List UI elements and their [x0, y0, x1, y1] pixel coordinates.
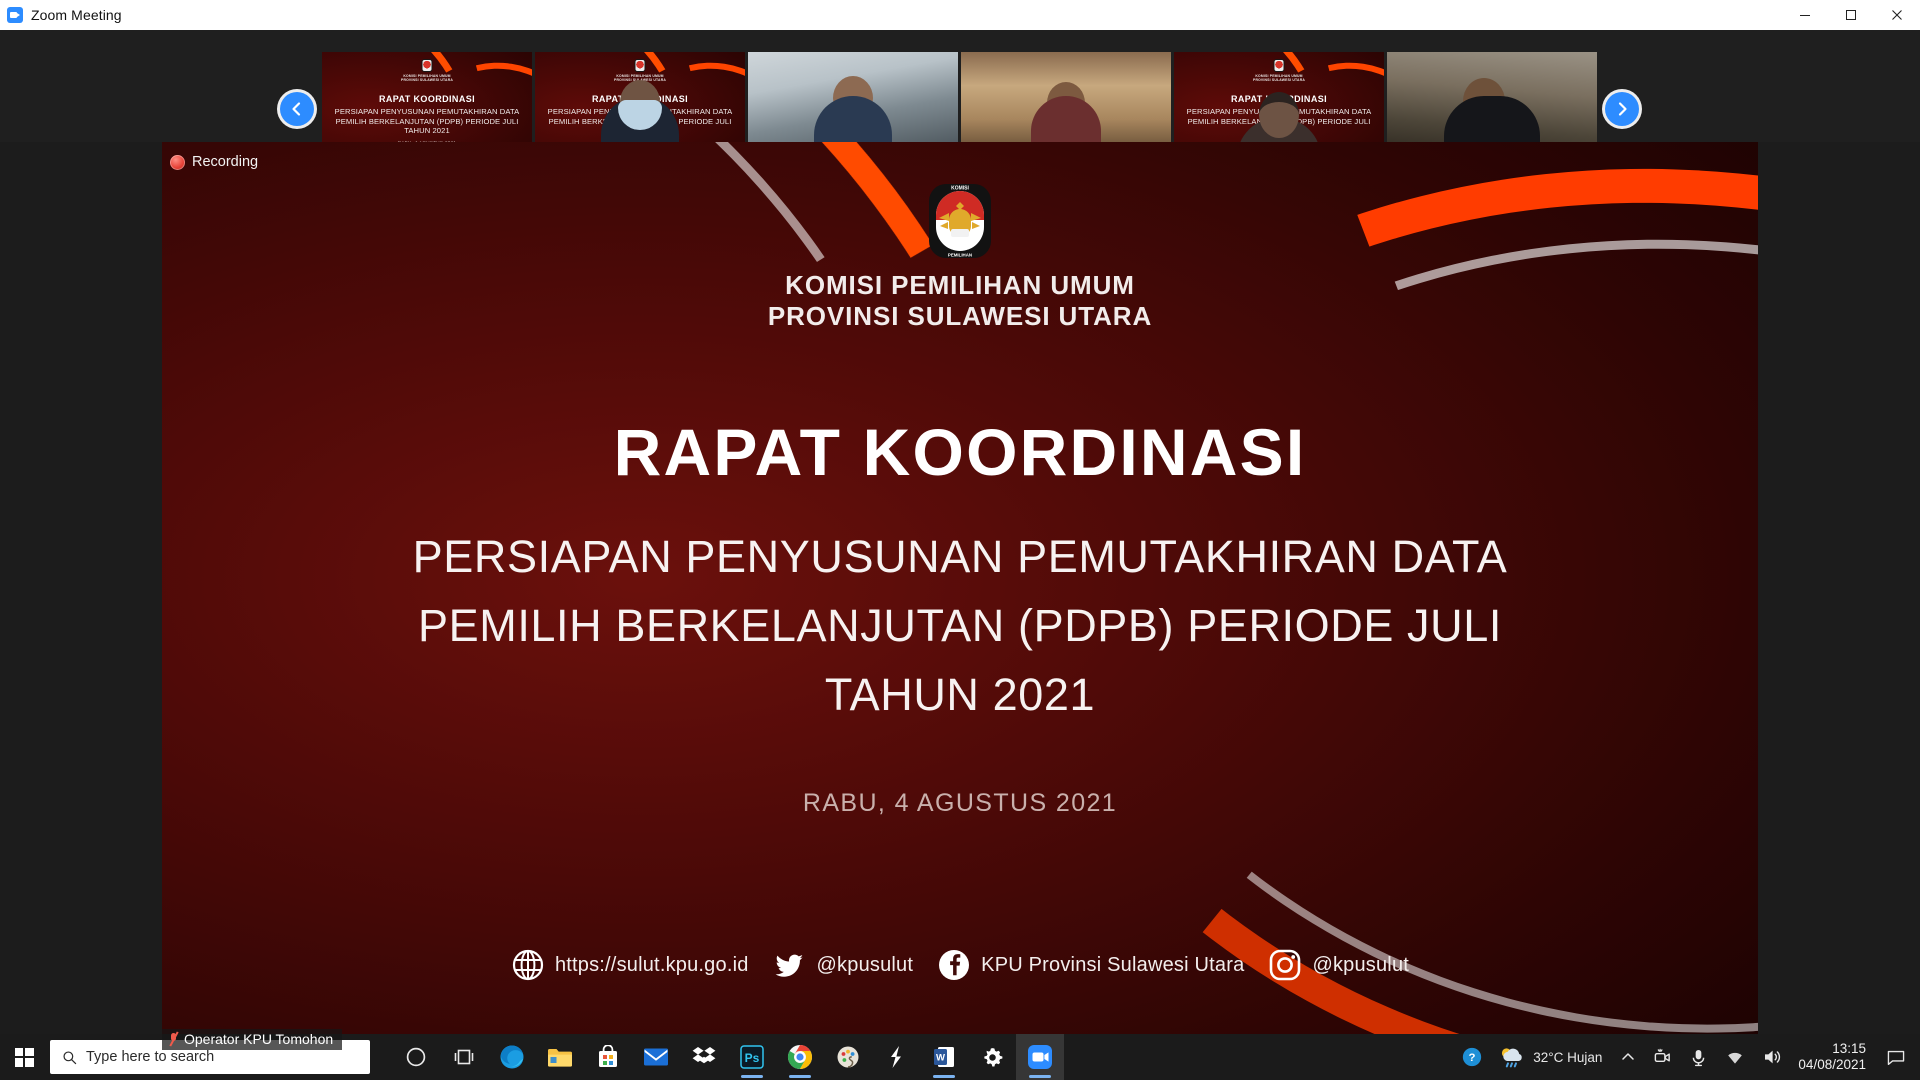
participant-filmstrip: KOMISI PEMILIHAN UMUMPROVINSI SULAWESI U… — [0, 30, 1920, 142]
clock-time: 13:15 — [1798, 1041, 1866, 1057]
close-button[interactable] — [1874, 0, 1920, 30]
search-placeholder: Type here to search — [86, 1049, 214, 1065]
slide-title: RAPAT KOORDINASI — [162, 414, 1758, 490]
start-button[interactable] — [0, 1034, 48, 1080]
cortana-icon[interactable] — [392, 1034, 440, 1080]
dropbox-icon[interactable] — [680, 1034, 728, 1080]
search-icon — [62, 1050, 77, 1065]
weather-text: 32°C Hujan — [1533, 1050, 1602, 1065]
screen-root: Zoom Meeting — [0, 0, 1920, 1080]
zoom-icon[interactable] — [1016, 1034, 1064, 1080]
svg-text:Ps: Ps — [745, 1051, 760, 1065]
taskbar-apps: Ps — [392, 1034, 1064, 1080]
system-tray: ? 32°C Hujan — [1452, 1034, 1920, 1080]
microphone-icon[interactable] — [1681, 1034, 1716, 1080]
minimize-button[interactable] — [1782, 0, 1828, 30]
slide-organization: KOMISI PEMILIHAN UMUM PROVINSI SULAWESI … — [162, 270, 1758, 332]
social-facebook: KPU Provinsi Sulawesi Utara — [937, 948, 1244, 982]
svg-text:PEMILIHAN: PEMILIHAN — [948, 253, 972, 258]
paint-icon[interactable] — [824, 1034, 872, 1080]
recording-label: Recording — [192, 154, 258, 170]
social-facebook-text: KPU Provinsi Sulawesi Utara — [981, 954, 1244, 977]
window-controls — [1782, 0, 1920, 30]
wifi-icon[interactable] — [1716, 1034, 1754, 1080]
window-titlebar: Zoom Meeting — [0, 0, 1920, 30]
filmstrip-next-button[interactable] — [1605, 92, 1639, 126]
subtitle-line-2: PEMILIH BERKELANJUTAN (PDPB) PERIODE JUL… — [220, 591, 1700, 660]
social-instagram-text: @kpusulut — [1312, 954, 1409, 977]
thumbnail-subtitle: PERSIAPAN PENYUSUNAN PEMUTAKHIRAN DATA P… — [328, 107, 526, 136]
zoom-meeting-window: KOMISI PEMILIHAN UMUMPROVINSI SULAWESI U… — [0, 30, 1920, 1050]
slide-social-links: https://sulut.kpu.go.id @kpusulut — [162, 948, 1758, 982]
instagram-icon — [1268, 948, 1302, 982]
windows-start-icon — [15, 1048, 34, 1067]
mail-icon[interactable] — [632, 1034, 680, 1080]
presenter-name: Operator KPU Tomohon — [184, 1031, 333, 1047]
globe-icon — [511, 948, 545, 982]
taskbar-clock[interactable]: 13:15 04/08/2021 — [1792, 1041, 1878, 1073]
line-app-icon[interactable] — [872, 1034, 920, 1080]
notification-icon[interactable] — [1878, 1034, 1914, 1080]
rain-cloud-icon — [1498, 1046, 1524, 1068]
svg-text:?: ? — [1469, 1052, 1476, 1064]
organization-line-2: PROVINSI SULAWESI UTARA — [162, 301, 1758, 332]
microsoft-store-icon[interactable] — [584, 1034, 632, 1080]
kpu-garuda-emblem-icon: KOMISI PEMILIHAN — [927, 182, 993, 260]
mic-muted-icon — [168, 1032, 179, 1046]
twitter-icon — [773, 948, 807, 982]
file-explorer-icon[interactable] — [536, 1034, 584, 1080]
window-title: Zoom Meeting — [31, 7, 122, 23]
help-circle-icon[interactable]: ? — [1452, 1034, 1492, 1080]
record-dot-icon — [170, 155, 185, 170]
chevron-left-icon — [289, 101, 305, 117]
camera-icon[interactable] — [1644, 1034, 1681, 1080]
filmstrip-prev-button[interactable] — [280, 92, 314, 126]
kpu-emblem-icon — [422, 59, 433, 72]
volume-icon[interactable] — [1754, 1034, 1792, 1080]
social-twitter-text: @kpusulut — [817, 954, 914, 977]
presentation-slide: Recording KOMISI — [162, 142, 1758, 1050]
thumbnail-org-text: KOMISI PEMILIHAN UMUMPROVINSI SULAWESI U… — [322, 74, 532, 83]
social-instagram: @kpusulut — [1268, 948, 1409, 982]
presenter-name-badge: Operator KPU Tomohon — [162, 1029, 342, 1050]
zoom-video-icon — [7, 7, 23, 23]
slide-date: RABU, 4 AGUSTUS 2021 — [162, 789, 1758, 818]
social-twitter: @kpusulut — [773, 948, 914, 982]
slide-subtitle: PERSIAPAN PENYUSUNAN PEMUTAKHIRAN DATA P… — [220, 522, 1700, 729]
microsoft-edge-icon[interactable] — [488, 1034, 536, 1080]
weather-widget[interactable]: 32°C Hujan — [1492, 1034, 1612, 1080]
social-website-text: https://sulut.kpu.go.id — [555, 954, 749, 977]
thumbnail-title: RAPAT KOORDINASI — [322, 94, 532, 104]
tray-expand-button[interactable] — [1612, 1034, 1644, 1080]
subtitle-line-3: TAHUN 2021 — [220, 660, 1700, 729]
google-chrome-icon[interactable] — [776, 1034, 824, 1080]
svg-text:W: W — [936, 1053, 945, 1064]
clock-date: 04/08/2021 — [1798, 1057, 1866, 1073]
photoshop-icon[interactable]: Ps — [728, 1034, 776, 1080]
task-view-icon[interactable] — [440, 1034, 488, 1080]
facebook-icon — [937, 948, 971, 982]
chevron-up-icon — [1621, 1050, 1635, 1064]
recording-indicator[interactable]: Recording — [170, 154, 258, 170]
microsoft-word-icon[interactable]: W — [920, 1034, 968, 1080]
maximize-button[interactable] — [1828, 0, 1874, 30]
settings-icon[interactable] — [968, 1034, 1016, 1080]
subtitle-line-1: PERSIAPAN PENYUSUNAN PEMUTAKHIRAN DATA — [220, 522, 1700, 591]
organization-line-1: KOMISI PEMILIHAN UMUM — [162, 270, 1758, 301]
svg-text:KOMISI: KOMISI — [951, 185, 969, 191]
shared-screen-area[interactable]: Recording KOMISI — [162, 142, 1758, 1050]
chevron-right-icon — [1614, 101, 1630, 117]
social-website: https://sulut.kpu.go.id — [511, 948, 749, 982]
